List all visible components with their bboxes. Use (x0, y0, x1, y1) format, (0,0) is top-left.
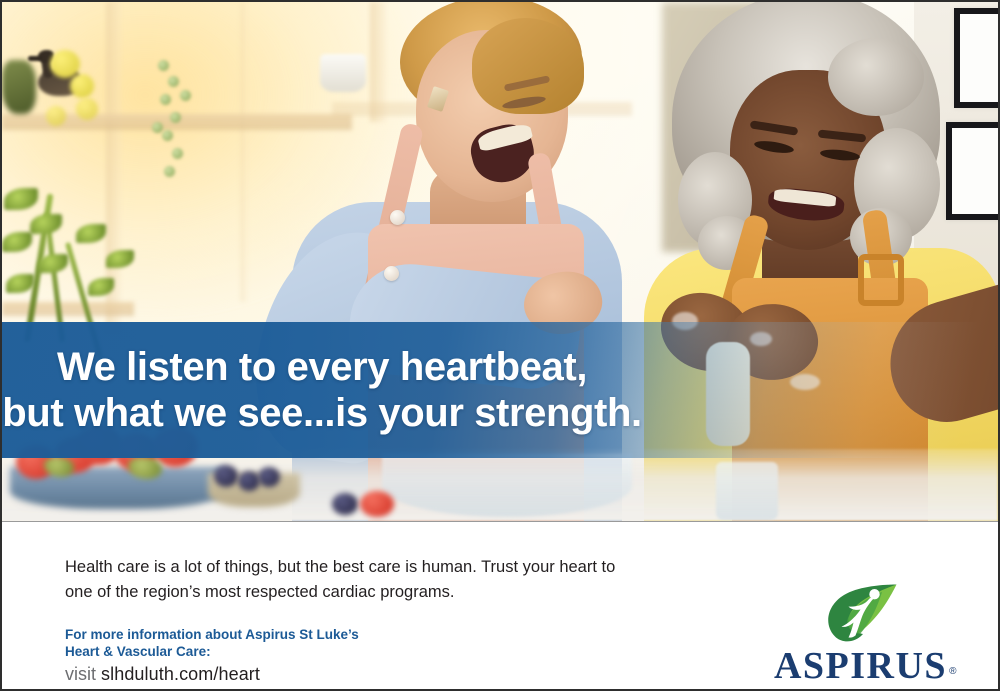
moss-decor (2, 60, 36, 114)
hero-photo: We listen to every heartbeat, but what w… (2, 2, 998, 522)
bottom-panel: Health care is a lot of things, but the … (2, 522, 998, 689)
logo-subtitle: ST. LUKE’S (768, 687, 953, 691)
headline-line-1: We listen to every heartbeat, (57, 344, 587, 390)
logo-wordmark-text: ASPIRUS (774, 645, 947, 687)
cta-line-2: Heart & Vascular Care: (65, 643, 485, 660)
aspirus-st-lukes-logo: ASPIRUS® ST. LUKE’S (768, 582, 953, 691)
aspirus-leaf-icon (822, 582, 900, 644)
glass-cup (716, 462, 778, 520)
strawberry (360, 491, 394, 517)
glass-mixing-bowl (382, 454, 632, 517)
advertisement: We listen to every heartbeat, but what w… (0, 0, 1000, 691)
vine-leaf (158, 60, 169, 71)
registered-trademark-icon: ® (949, 652, 958, 691)
headline-text-block: We listen to every heartbeat, but what w… (2, 322, 642, 458)
yellow-decor-ball (70, 74, 94, 98)
hair-curl (828, 38, 924, 116)
vine-leaf (160, 94, 171, 105)
blueberry (214, 465, 238, 487)
yellow-decor-ball (76, 98, 98, 120)
blueberry (332, 493, 358, 515)
blueberry (238, 471, 260, 491)
logo-wordmark: ASPIRUS® (774, 646, 947, 686)
visit-label: visit (65, 664, 96, 684)
kitchen-shelf (2, 302, 134, 316)
blueberry (258, 467, 280, 487)
cta-line-1: For more information about Aspirus St Lu… (65, 626, 485, 643)
headline-line-2: but what we see...is your strength. (2, 390, 641, 436)
call-to-action: For more information about Aspirus St Lu… (65, 626, 485, 686)
apron-button (384, 266, 399, 281)
apron-buckle (858, 254, 904, 306)
apron-button (390, 210, 405, 225)
bird-figurine-beak (28, 56, 42, 61)
yellow-decor-ball (46, 106, 66, 126)
body-copy: Health care is a lot of things, but the … (65, 555, 625, 605)
website-line[interactable]: visit slhduluth.com/heart (65, 663, 485, 686)
headline-banner: We listen to every heartbeat, but what w… (2, 322, 998, 458)
website-url[interactable]: slhduluth.com/heart (101, 664, 260, 684)
vine-leaf (152, 122, 163, 133)
yellow-decor-ball (50, 50, 80, 78)
